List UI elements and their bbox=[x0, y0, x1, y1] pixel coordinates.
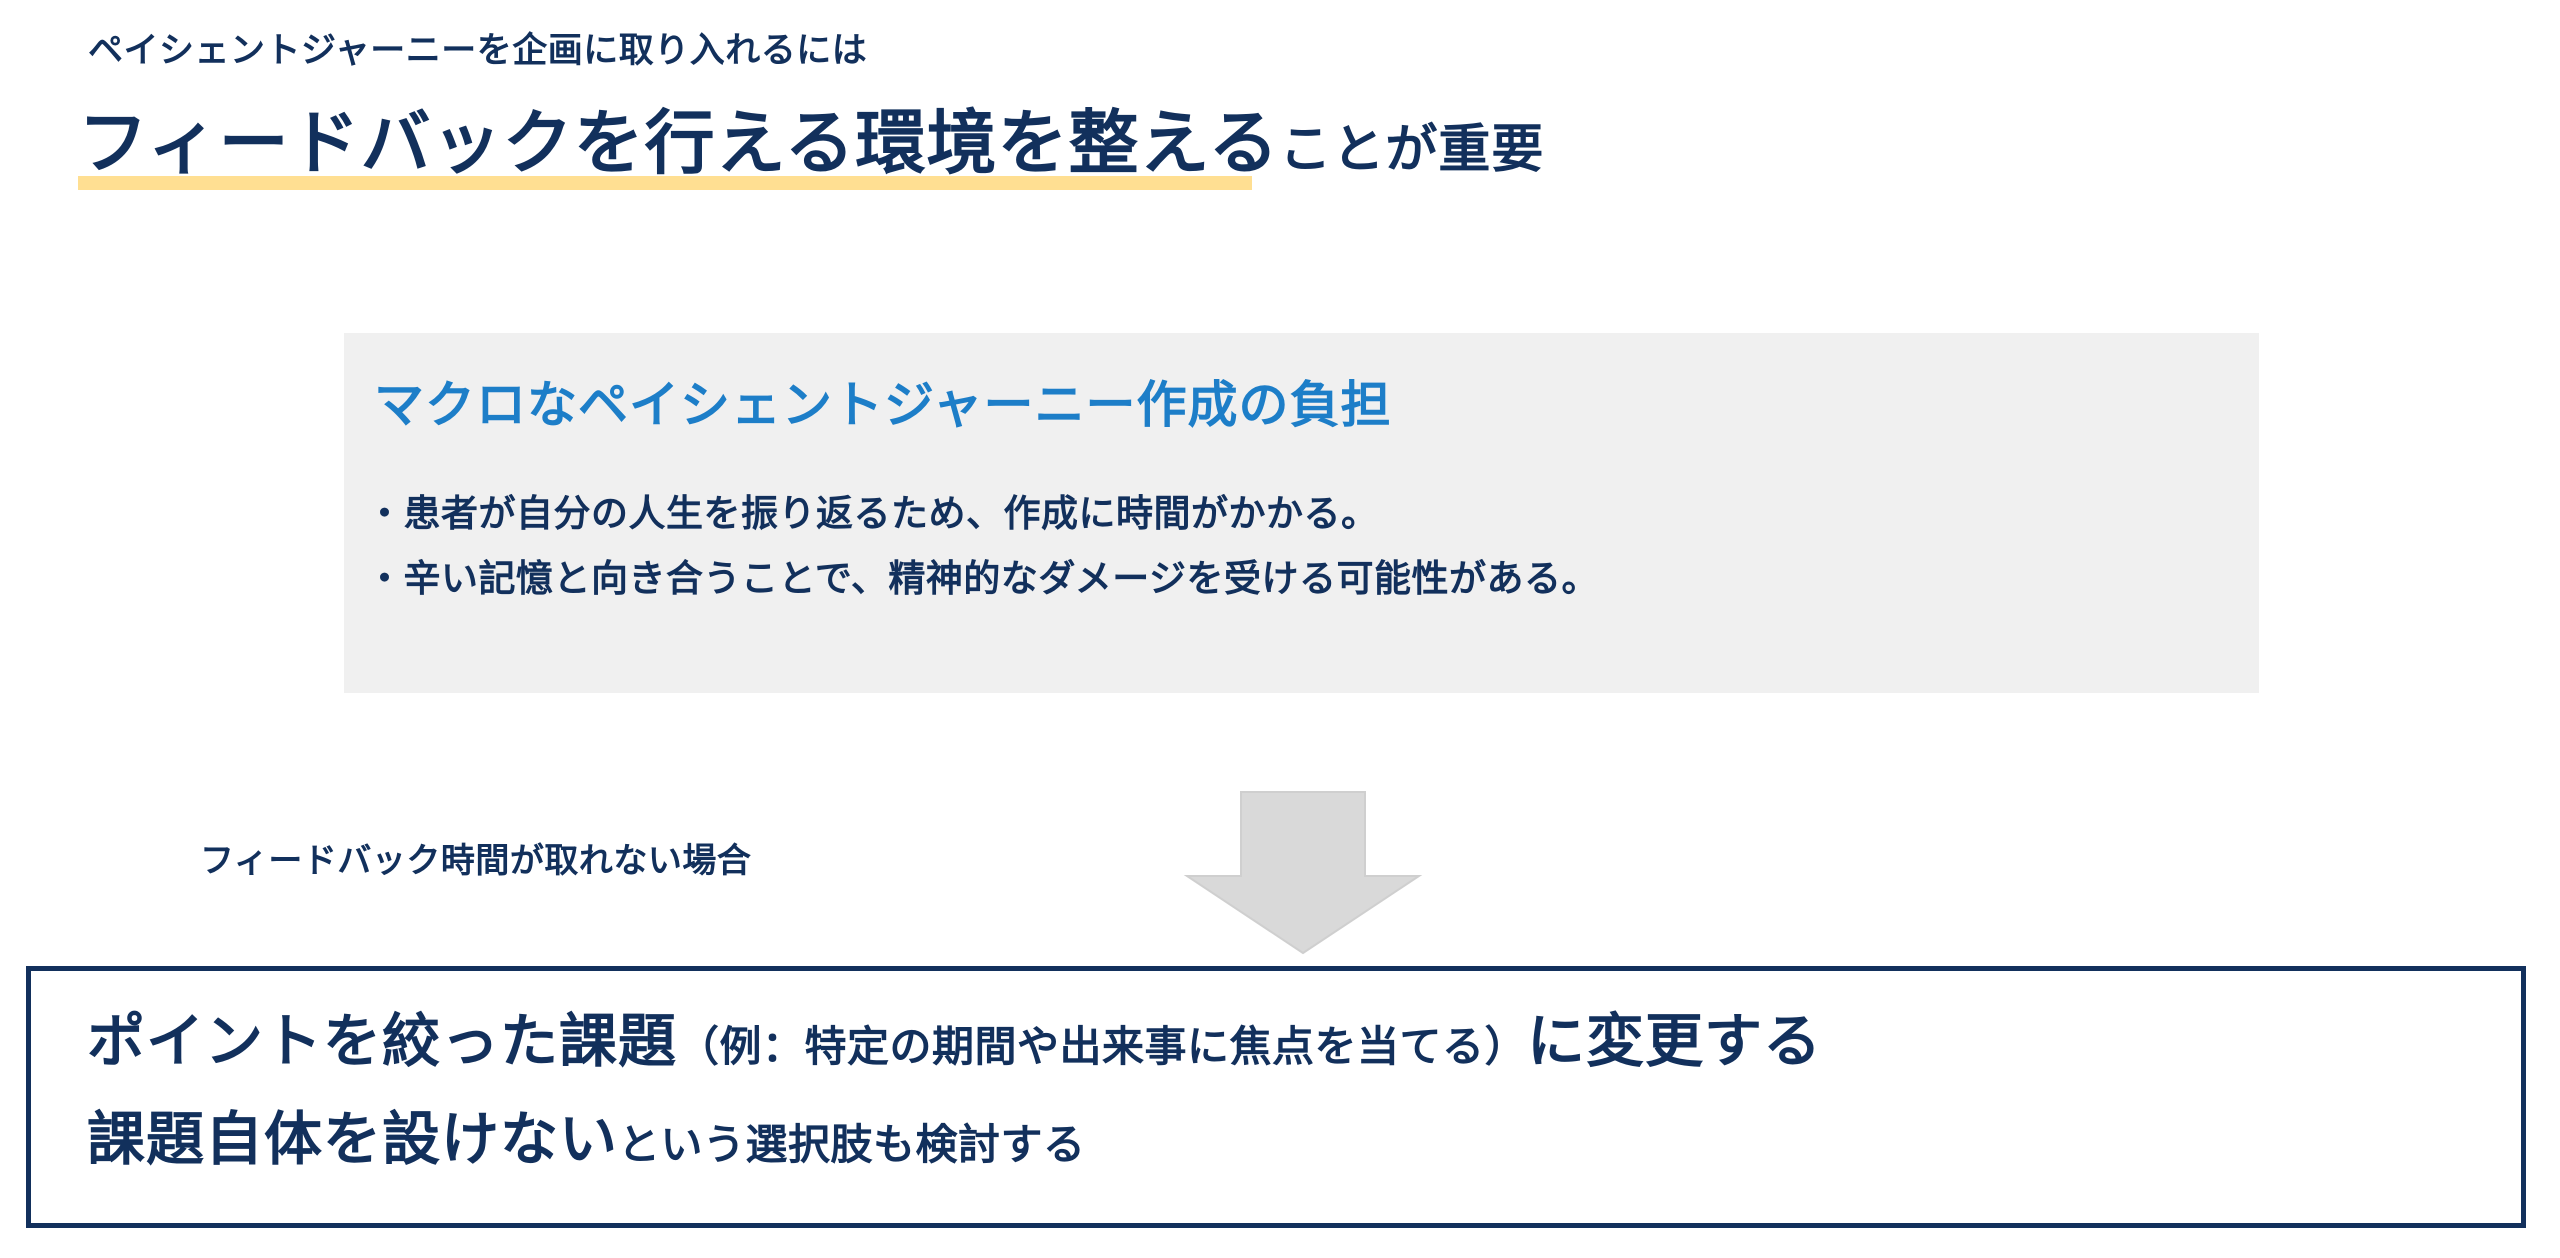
conclusion-line-2: 課題自体を設けないという選択肢も検討する bbox=[87, 1111, 1086, 1169]
page-title: フィードバックを行える環境を整える ことが重要 bbox=[78, 108, 1544, 184]
conclusion-line1-example: （例：特定の期間や出来事に焦点を当てる） bbox=[677, 1023, 1527, 1070]
down-arrow-icon bbox=[1183, 790, 1423, 955]
burden-box-title: マクロなペイシェントジャーニー作成の負担 bbox=[374, 365, 1392, 437]
slide-eyebrow: ペイシェントジャーニーを企画に取り入れるには bbox=[88, 22, 867, 73]
headline-highlighted-part: フィードバックを行える環境を整える bbox=[78, 108, 1279, 184]
conclusion-line-1: ポイントを絞った課題（例：特定の期間や出来事に焦点を当てる）に変更する bbox=[87, 1013, 1822, 1071]
list-item: ・辛い記憶と向き合うことで、精神的なダメージを受ける可能性がある。 bbox=[366, 548, 1599, 602]
slide-canvas: ペイシェントジャーニーを企画に取り入れるには フィードバックを行える環境を整える… bbox=[0, 0, 2560, 1258]
conclusion-line2-strong-start: 課題自体を設けない bbox=[87, 1107, 618, 1172]
burden-info-box: マクロなペイシェントジャーニー作成の負担 ・患者が自分の人生を振り返るため、作成… bbox=[344, 333, 2259, 693]
conclusion-line1-strong-start: ポイントを絞った課題 bbox=[87, 1009, 677, 1074]
conclusion-line2-light-end: という選択肢も検討する bbox=[618, 1121, 1086, 1168]
list-item: ・患者が自分の人生を振り返るため、作成に時間がかかる。 bbox=[366, 483, 1379, 537]
transition-caption: フィードバック時間が取れない場合 bbox=[200, 833, 751, 882]
conclusion-box: ポイントを絞った課題（例：特定の期間や出来事に焦点を当てる）に変更する 課題自体… bbox=[26, 966, 2526, 1228]
conclusion-line1-strong-end: に変更する bbox=[1527, 1009, 1822, 1074]
headline-tail-text: ことが重要 bbox=[1279, 121, 1544, 179]
headline-highlight-text: フィードバックを行える環境を整える bbox=[78, 104, 1279, 182]
